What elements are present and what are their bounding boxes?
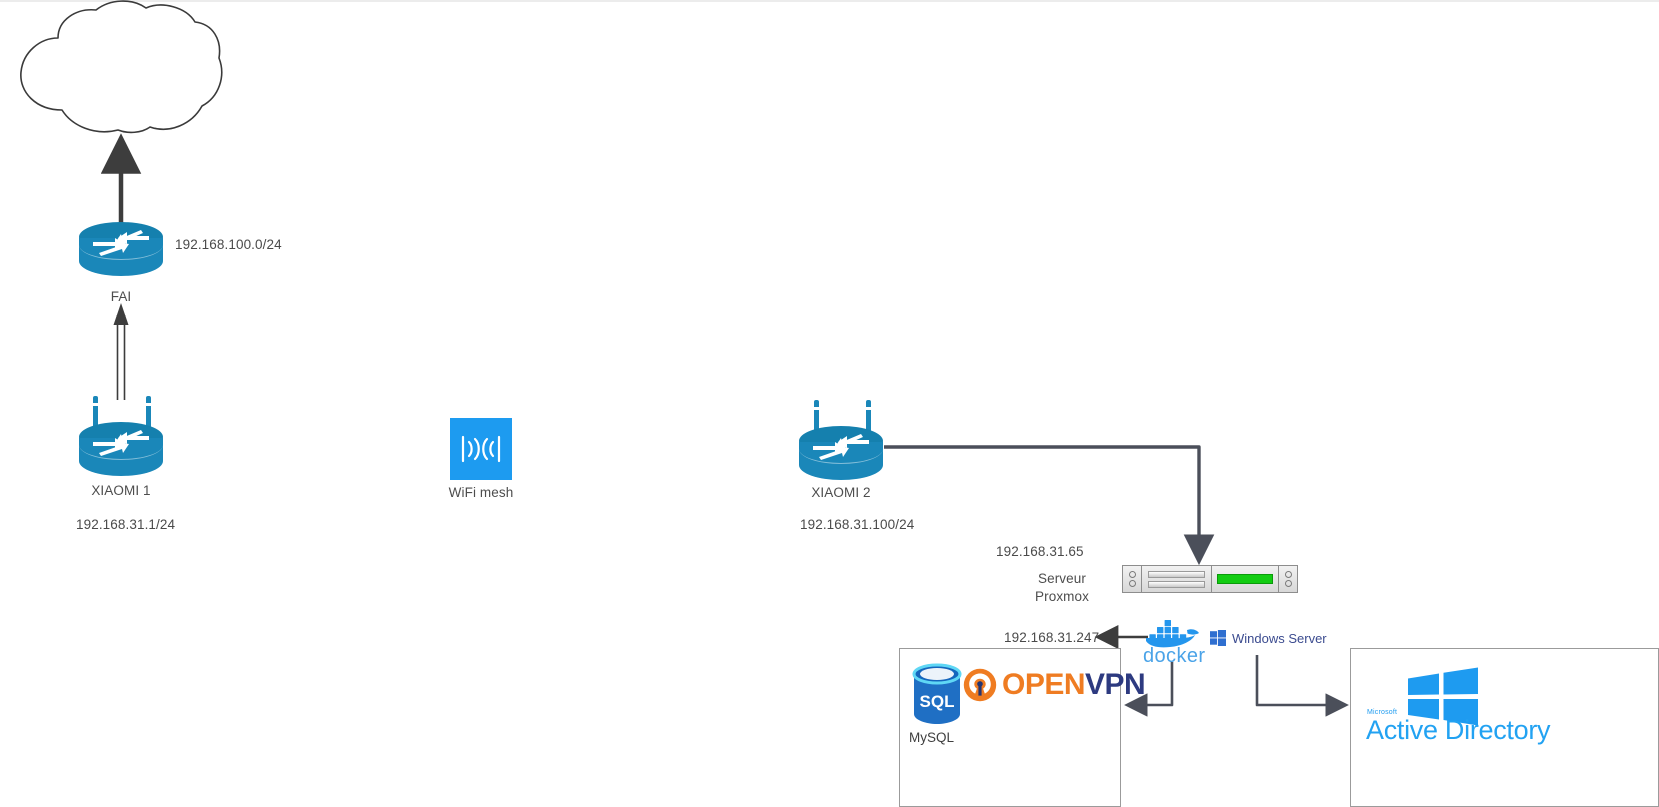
windows-server-label: Windows Server xyxy=(1232,631,1327,646)
rack-left-ears xyxy=(1123,566,1142,592)
openvpn-label-open: OPEN xyxy=(1002,668,1085,701)
mysql-logo[interactable]: SQL xyxy=(911,663,963,730)
rack-status-led xyxy=(1211,566,1278,592)
xiaomi2-router-icon[interactable] xyxy=(799,426,883,480)
xiaomi2-ip-label: 192.168.31.100/24 xyxy=(800,517,914,532)
windows-logo-icon xyxy=(1210,630,1226,646)
mysql-label: MySQL xyxy=(909,730,954,745)
proxmox-label-line1: Serveur xyxy=(1002,571,1122,586)
fai-router-label: FAI xyxy=(79,289,163,304)
active-directory-label: Active Directory xyxy=(1366,715,1550,746)
wifi-signal-glyph xyxy=(458,434,504,464)
openvpn-label-vpn: VPN xyxy=(1085,668,1145,701)
fai-router-icon[interactable] xyxy=(79,222,163,276)
proxmox-ip-label: 192.168.31.65 xyxy=(996,544,1084,559)
wifi-mesh-icon[interactable] xyxy=(450,418,512,480)
windows-server-logo[interactable] xyxy=(1210,630,1226,651)
openvpn-container-panel: SQL MySQL OPENVPN xyxy=(899,648,1121,807)
proxmox-server-icon[interactable] xyxy=(1122,565,1298,593)
openvpn-shield-icon xyxy=(963,668,997,702)
fai-network-label: 192.168.100.0/24 xyxy=(175,237,282,252)
cloud-icon xyxy=(21,1,222,132)
rack-right-ears xyxy=(1278,566,1297,592)
active-directory-container-panel: Microsoft Active Directory xyxy=(1350,648,1659,807)
database-cylinder-icon: SQL xyxy=(911,663,963,725)
openvpn-logo[interactable] xyxy=(963,668,997,707)
docker-label: docker xyxy=(1143,645,1205,668)
openvpn-label: OPENVPN xyxy=(1002,668,1145,702)
top-divider xyxy=(0,0,1659,2)
link-winserver-to-ad xyxy=(1257,655,1345,705)
xiaomi1-router-icon[interactable] xyxy=(79,422,163,476)
router-arrows-glyph xyxy=(799,426,883,480)
xiaomi1-label: XIAOMI 1 xyxy=(69,483,173,498)
network-diagram-canvas: 192.168.100.0/24 FAI XIAOMI 1 192.168.31… xyxy=(0,0,1659,807)
docker-ip-label: 192.168.31.247 xyxy=(1004,630,1099,645)
xiaomi1-ip-label: 192.168.31.1/24 xyxy=(76,517,175,532)
router-arrows-glyph xyxy=(79,222,163,276)
router-arrows-glyph xyxy=(79,422,163,476)
svg-text:SQL: SQL xyxy=(920,692,955,711)
wifi-mesh-label: WiFi mesh xyxy=(430,485,532,500)
proxmox-label-line2: Proxmox xyxy=(1002,589,1122,604)
link-xiaomi1-to-fai xyxy=(114,303,129,400)
docker-whale-icon xyxy=(1144,616,1201,648)
xiaomi2-label: XIAOMI 2 xyxy=(789,485,893,500)
rack-vents xyxy=(1142,566,1211,592)
